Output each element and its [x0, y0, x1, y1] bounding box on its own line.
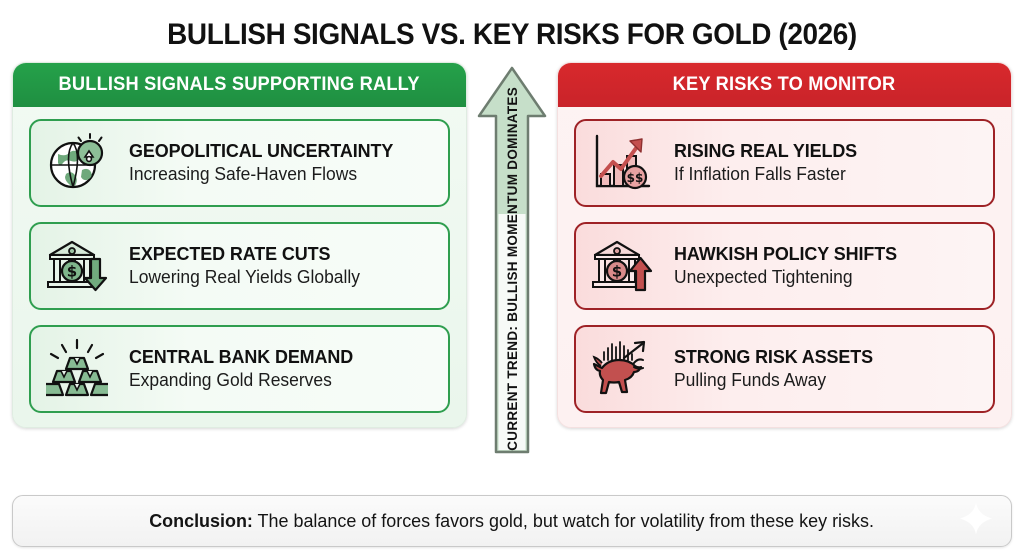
list-item-text: CENTRAL BANK DEMAND Expanding Gold Reser…: [123, 327, 448, 411]
trend-arrow-column: CURRENT TREND: BULLISH MOMENTUM DOMINATE…: [467, 62, 557, 468]
list-item-title: HAWKISH POLICY SHIFTS: [674, 243, 974, 264]
list-item-subtitle: If Inflation Falls Faster: [674, 164, 974, 186]
sparkle-icon: [959, 502, 993, 541]
bank-dollar-down-arrow-icon: $: [31, 224, 123, 308]
svg-text:$: $: [612, 263, 622, 281]
comparison-stage: BULLISH SIGNALS SUPPORTING RALLY: [0, 62, 1024, 468]
list-item-subtitle: Unexpected Tightening: [674, 267, 974, 289]
list-item-title: RISING REAL YIELDS: [674, 140, 974, 161]
list-item-subtitle: Expanding Gold Reserves: [129, 370, 429, 392]
list-item-subtitle: Lowering Real Yields Globally: [129, 267, 429, 289]
list-item-text: STRONG RISK ASSETS Pulling Funds Away: [668, 327, 993, 411]
key-risks-panel: KEY RISKS TO MONITOR $$: [557, 62, 1012, 428]
conclusion-body: The balance of forces favors gold, but w…: [253, 510, 874, 531]
bullish-card-list: GEOPOLITICAL UNCERTAINTY Increasing Safe…: [13, 107, 466, 427]
list-item[interactable]: $ EXPECTED RATE CUTS Lowering Real Yield…: [29, 222, 450, 310]
up-arrow-icon: [475, 64, 549, 456]
globe-magnifier-icon: [31, 121, 123, 205]
bull-market-icon: [576, 327, 668, 411]
svg-text:$$: $$: [627, 171, 644, 185]
list-item[interactable]: $ HAWKISH POLICY SHIFTS Unexpected Tight…: [574, 222, 995, 310]
list-item-subtitle: Pulling Funds Away: [674, 370, 974, 392]
list-item-title: GEOPOLITICAL UNCERTAINTY: [129, 140, 429, 161]
svg-text:$: $: [67, 263, 77, 281]
page-title: BULLISH SIGNALS VS. KEY RISKS FOR GOLD (…: [36, 0, 988, 62]
list-item-subtitle: Increasing Safe-Haven Flows: [129, 164, 429, 186]
list-item[interactable]: GEOPOLITICAL UNCERTAINTY Increasing Safe…: [29, 119, 450, 207]
conclusion-bar: Conclusion: The balance of forces favors…: [12, 495, 1012, 547]
conclusion-text: Conclusion: The balance of forces favors…: [150, 510, 875, 532]
list-item-title: CENTRAL BANK DEMAND: [129, 346, 429, 367]
bullish-panel-header-label: BULLISH SIGNALS SUPPORTING RALLY: [59, 74, 420, 96]
bullish-signals-panel: BULLISH SIGNALS SUPPORTING RALLY: [12, 62, 467, 428]
list-item[interactable]: STRONG RISK ASSETS Pulling Funds Away: [574, 325, 995, 413]
list-item-text: RISING REAL YIELDS If Inflation Falls Fa…: [668, 121, 993, 205]
conclusion-label: Conclusion:: [150, 510, 254, 531]
list-item[interactable]: CENTRAL BANK DEMAND Expanding Gold Reser…: [29, 325, 450, 413]
list-item-title: STRONG RISK ASSETS: [674, 346, 974, 367]
bank-dollar-up-arrow-icon: $: [576, 224, 668, 308]
bullish-panel-header: BULLISH SIGNALS SUPPORTING RALLY: [13, 63, 466, 107]
list-item-text: GEOPOLITICAL UNCERTAINTY Increasing Safe…: [123, 121, 448, 205]
current-trend-arrow: CURRENT TREND: BULLISH MOMENTUM DOMINATE…: [475, 64, 549, 456]
list-item-title: EXPECTED RATE CUTS: [129, 243, 429, 264]
list-item-text: HAWKISH POLICY SHIFTS Unexpected Tighten…: [668, 224, 993, 308]
list-item[interactable]: $$ RISING REAL YIELDS If Inflation Falls…: [574, 119, 995, 207]
gold-bars-icon: [31, 327, 123, 411]
list-item-text: EXPECTED RATE CUTS Lowering Real Yields …: [123, 224, 448, 308]
risks-panel-header: KEY RISKS TO MONITOR: [558, 63, 1011, 107]
rising-bar-chart-dollar-icon: $$: [576, 121, 668, 205]
risks-card-list: $$ RISING REAL YIELDS If Inflation Falls…: [558, 107, 1011, 427]
risks-panel-header-label: KEY RISKS TO MONITOR: [673, 74, 896, 96]
